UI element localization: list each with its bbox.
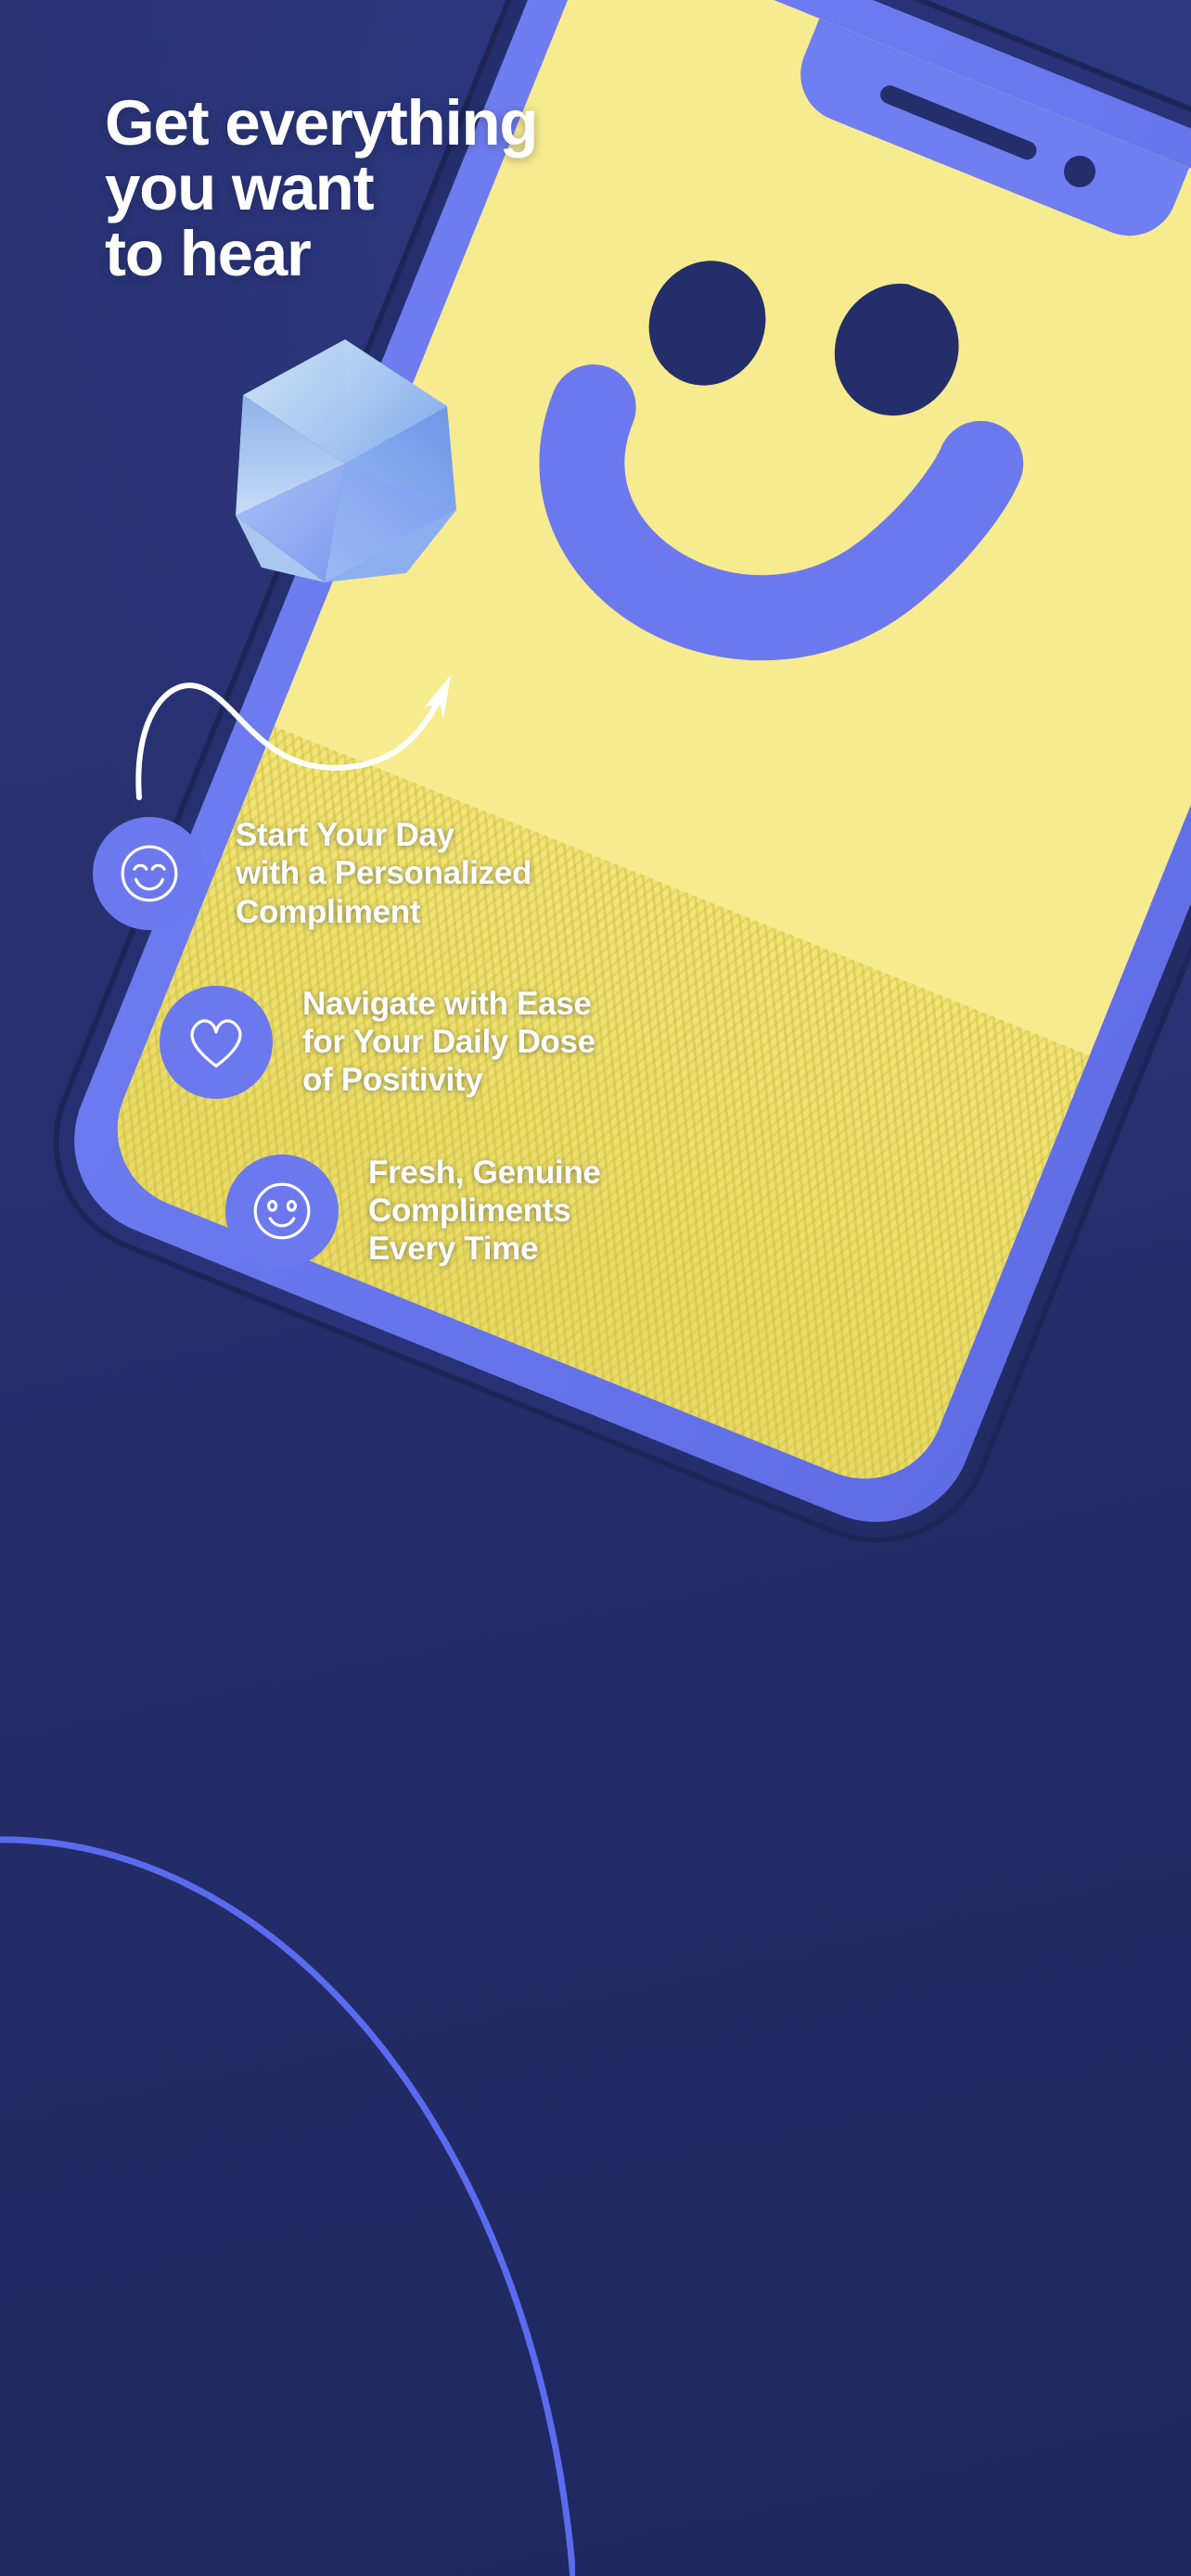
feature-list: Start Your Day with a Personalized Compl… xyxy=(0,816,1191,1269)
feature-label: Start Your Day with a Personalized Compl… xyxy=(236,816,531,931)
feature-label: Fresh, Genuine Compliments Every Time xyxy=(368,1154,601,1269)
feature-line: Every Time xyxy=(368,1230,601,1268)
feature-line: Compliments xyxy=(368,1192,601,1230)
phone-notch xyxy=(786,19,1189,250)
feature-line: Fresh, Genuine xyxy=(368,1154,601,1192)
smiley-happy-eyes-icon xyxy=(93,817,206,930)
headline-line-1: Get everything xyxy=(105,91,773,156)
background-arc-decoration xyxy=(0,1834,575,2576)
page-headline: Get everything you want to hear xyxy=(105,91,773,287)
feature-line: Start Your Day xyxy=(236,816,531,854)
promo-screen: Get everything you want to hear Start Yo… xyxy=(0,0,1191,2576)
feature-label: Navigate with Ease for Your Daily Dose o… xyxy=(302,985,595,1100)
heart-icon xyxy=(160,986,273,1099)
front-camera-icon xyxy=(1059,151,1100,192)
feature-item-fresh-genuine[interactable]: Fresh, Genuine Compliments Every Time xyxy=(0,1154,1191,1269)
feature-line: Navigate with Ease xyxy=(302,985,595,1023)
feature-line: with a Personalized xyxy=(236,854,531,892)
curved-arrow-icon xyxy=(119,658,471,807)
feature-item-start-your-day[interactable]: Start Your Day with a Personalized Compl… xyxy=(0,816,1191,931)
feature-line: Compliment xyxy=(236,893,531,931)
headline-line-3: to hear xyxy=(105,222,773,287)
feature-line: for Your Daily Dose xyxy=(302,1023,595,1061)
earpiece-speaker-icon xyxy=(877,83,1039,162)
feature-item-navigate-with-ease[interactable]: Navigate with Ease for Your Daily Dose o… xyxy=(0,985,1191,1100)
headline-line-2: you want xyxy=(105,156,773,221)
icosahedron-icon xyxy=(224,334,466,603)
smiley-dot-eyes-icon xyxy=(225,1154,339,1268)
feature-line: of Positivity xyxy=(302,1061,595,1099)
